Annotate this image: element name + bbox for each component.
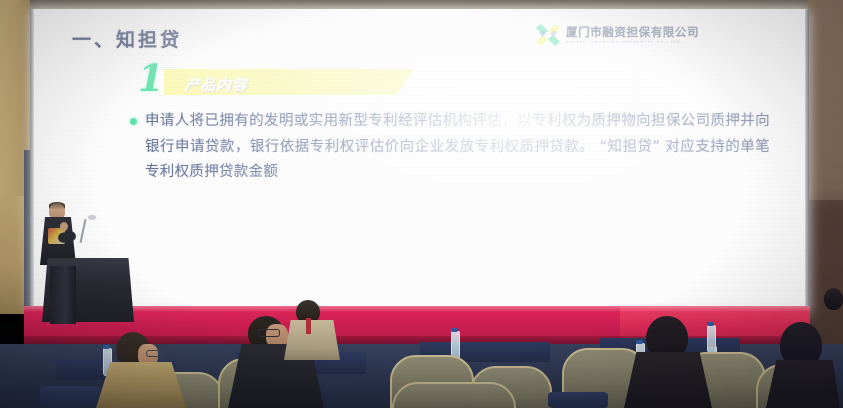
presenter-hand bbox=[60, 222, 68, 231]
microphone-head bbox=[88, 215, 96, 220]
screenshot-root: 一、知担贷 厦门市融资担保有限公司 XIAMEN FINANCING GUA bbox=[0, 0, 843, 408]
stage-highlight bbox=[24, 306, 810, 312]
section-label: 产品内容 bbox=[185, 74, 248, 95]
screen-frame-left bbox=[30, 9, 34, 314]
bottle-cap bbox=[451, 328, 458, 332]
water-bottle bbox=[707, 325, 716, 353]
logo-text-block: 厦门市融资担保有限公司 XIAMEN FINANCING GUARANTEE C… bbox=[566, 27, 699, 44]
bottle-cap bbox=[636, 340, 643, 344]
section-header: 1 产品内容 bbox=[138, 63, 438, 103]
logo-company-name-en: XIAMEN FINANCING GUARANTEE CO., LTD. bbox=[566, 40, 699, 44]
bottle-cap bbox=[707, 322, 714, 326]
screen-frame-right bbox=[805, 9, 809, 309]
x-crossing-arrows-logo bbox=[535, 23, 561, 47]
bullet-item: 申请人将已拥有的发明或实用新型专利经评估机构评估，以专利权为质押物向担保公司质押… bbox=[130, 109, 770, 186]
chair-frame bbox=[40, 386, 100, 408]
bullet-dot-icon bbox=[130, 118, 137, 125]
podium-column bbox=[50, 266, 76, 324]
audience-torso bbox=[766, 360, 840, 408]
slide-body: 申请人将已拥有的发明或实用新型专利经评估机构评估，以专利权为质押物向担保公司质押… bbox=[130, 109, 770, 186]
audience-torso bbox=[284, 320, 340, 360]
chair bbox=[392, 382, 516, 408]
audience-torso bbox=[624, 352, 712, 408]
audience-hair bbox=[824, 288, 843, 310]
audience-lanyard bbox=[306, 318, 311, 334]
chair-frame bbox=[548, 392, 608, 408]
eyeglasses bbox=[146, 350, 162, 357]
bullet-text: 申请人将已拥有的发明或实用新型专利经评估机构评估，以专利权为质押物向担保公司质押… bbox=[145, 109, 770, 186]
bottle-cap bbox=[103, 345, 110, 349]
eyeglasses bbox=[258, 329, 280, 337]
logo-company-name-cn: 厦门市融资担保有限公司 bbox=[566, 27, 699, 39]
projection-screen: 一、知担贷 厦门市融资担保有限公司 XIAMEN FINANCING GUA bbox=[30, 9, 809, 314]
audience-torso bbox=[96, 362, 186, 408]
presentation-slide: 一、知担贷 厦门市融资担保有限公司 XIAMEN FINANCING GUA bbox=[30, 9, 809, 314]
slide-title: 一、知担贷 bbox=[72, 25, 182, 52]
company-logo: 厦门市融资担保有限公司 XIAMEN FINANCING GUARANTEE C… bbox=[535, 19, 730, 51]
section-number: 1 bbox=[138, 60, 164, 97]
ceiling-inner bbox=[24, 0, 810, 9]
